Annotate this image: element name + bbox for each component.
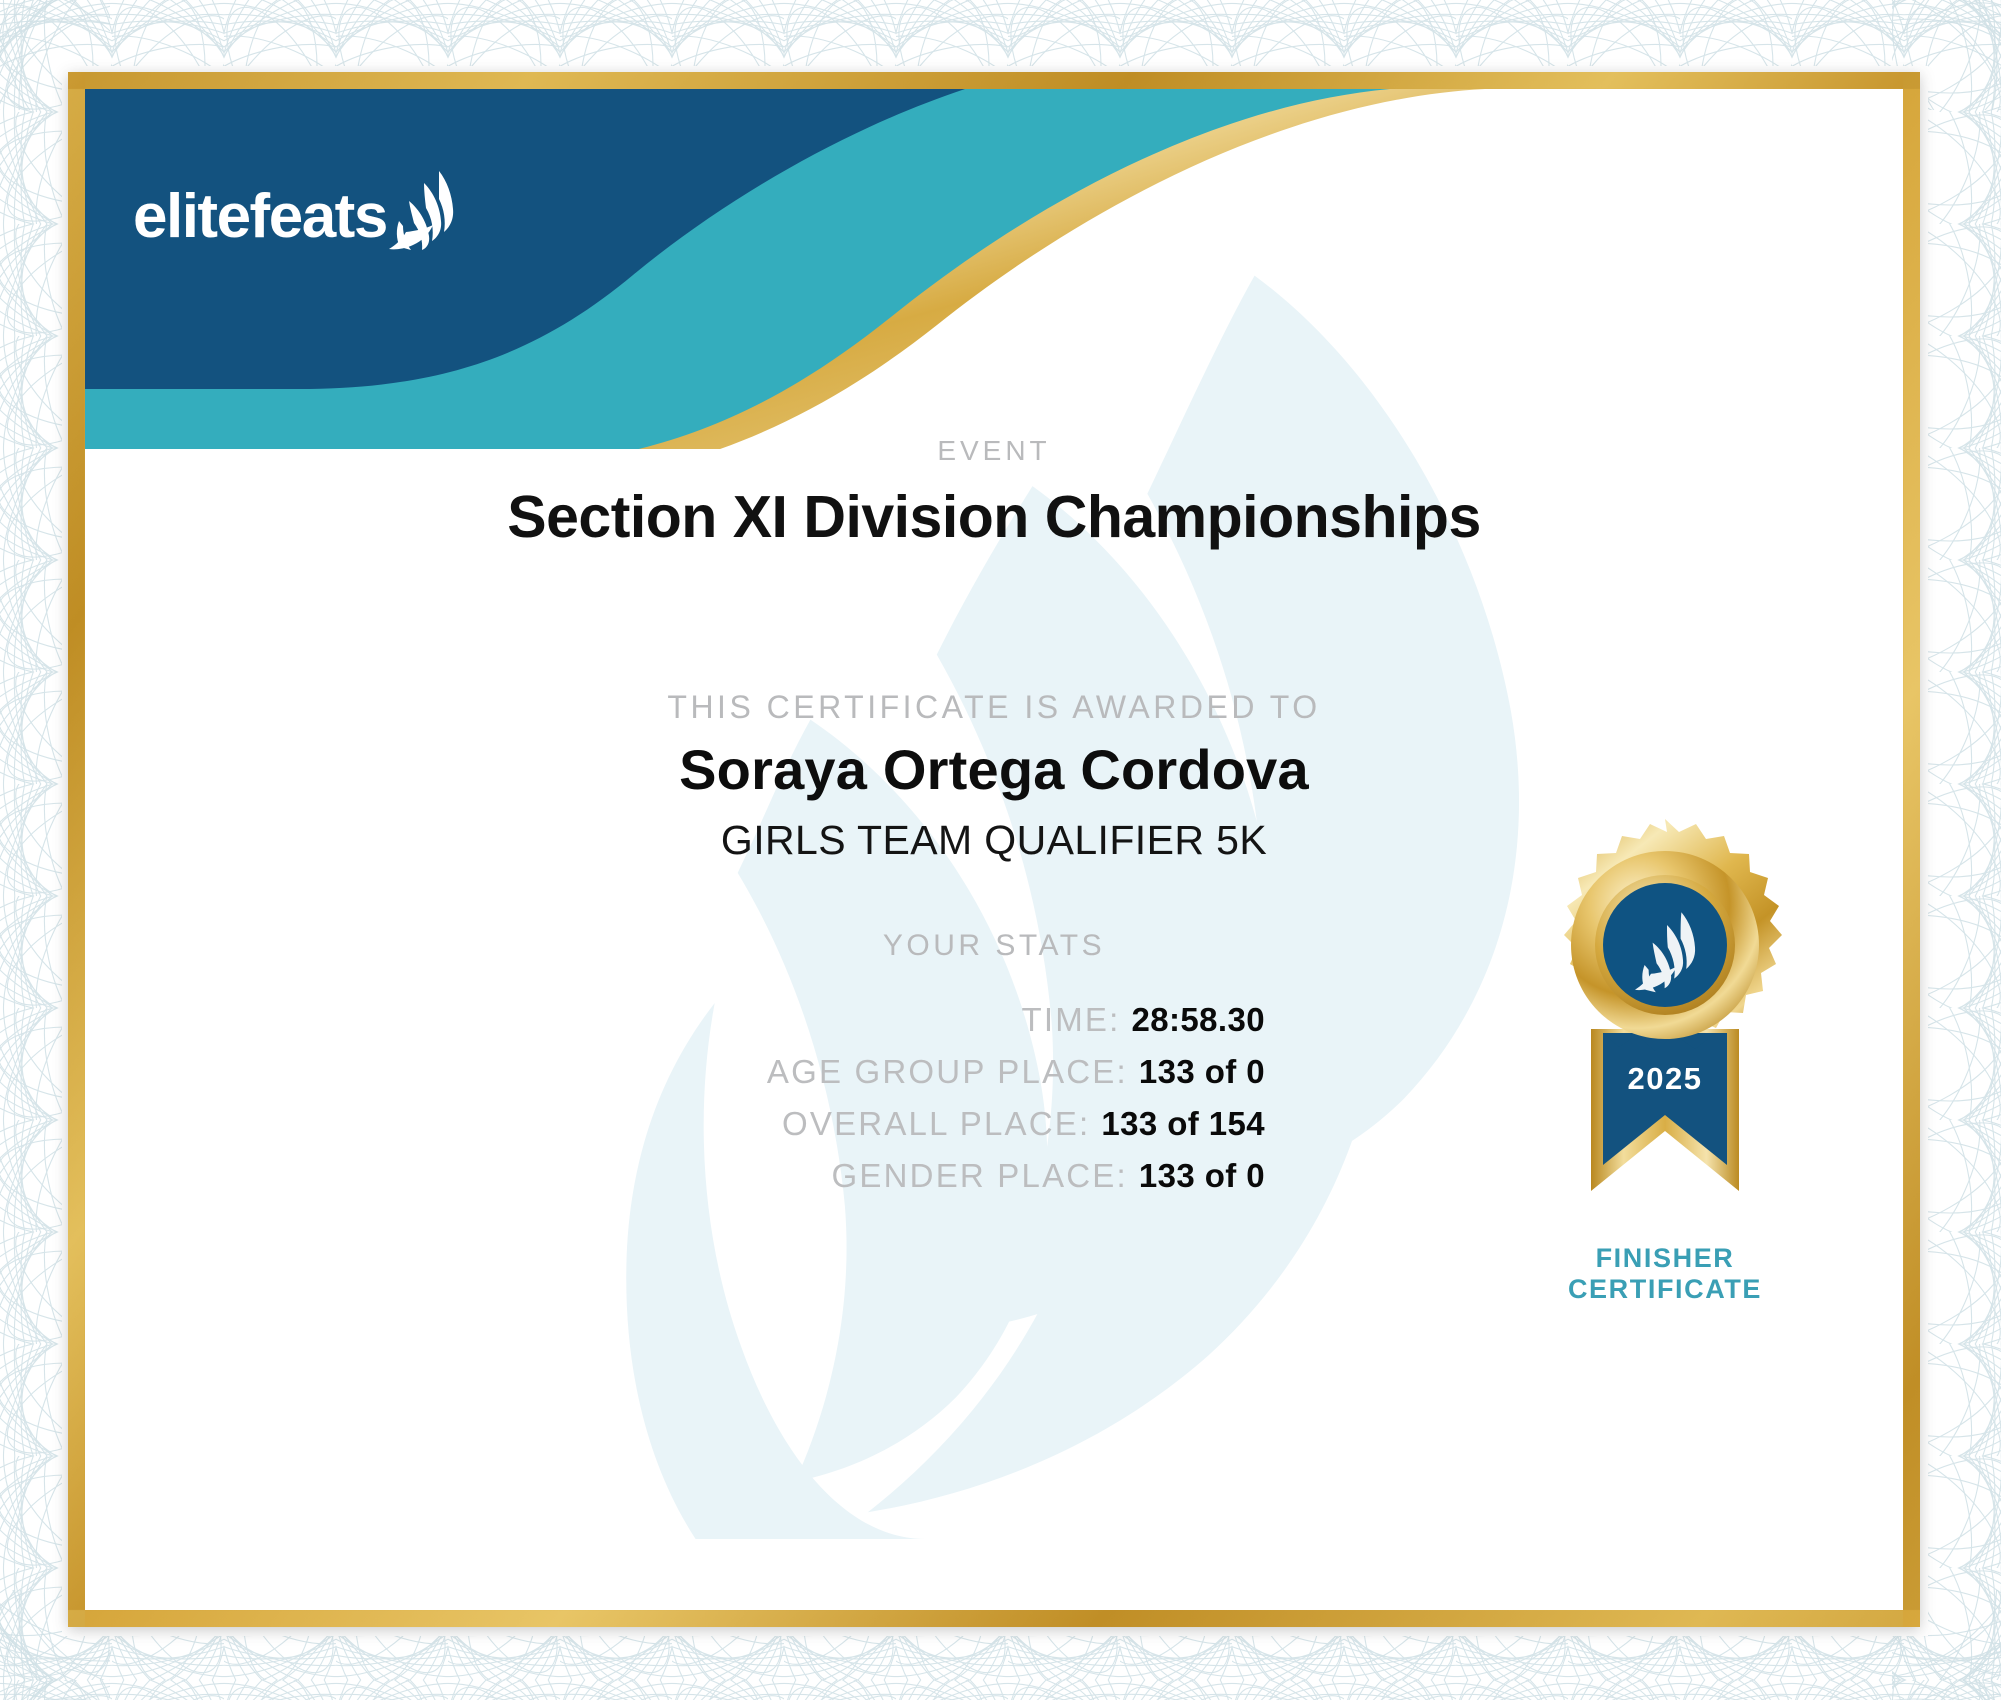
stat-row-age-group-place: AGE GROUP PLACE: 133 of 0	[85, 1053, 1265, 1091]
medal-year: 2025	[1628, 1061, 1703, 1096]
certificate-frame: elitefeats EVENT Se	[68, 72, 1920, 1627]
stat-value: 28:58.30	[1132, 1001, 1265, 1039]
stat-key: GENDER PLACE:	[832, 1157, 1128, 1195]
winged-foot-icon	[389, 169, 461, 256]
stat-value: 133 of 154	[1101, 1105, 1265, 1143]
stat-key: AGE GROUP PLACE:	[767, 1053, 1128, 1091]
finisher-medal: 2025	[1515, 819, 1815, 1305]
awarded-to-label: THIS CERTIFICATE IS AWARDED TO	[85, 689, 1903, 726]
certificate-root: elitefeats EVENT Se	[0, 0, 2001, 1700]
stat-row-time: TIME: 28:58.30	[85, 1001, 1265, 1039]
stat-value: 133 of 0	[1139, 1157, 1265, 1195]
brand-logo: elitefeats	[133, 177, 461, 256]
stat-key: OVERALL PLACE:	[782, 1105, 1090, 1143]
certificate-page: elitefeats EVENT Se	[85, 89, 1903, 1610]
event-label: EVENT	[85, 435, 1903, 467]
stats-list: TIME: 28:58.30 AGE GROUP PLACE: 133 of 0…	[85, 1001, 1265, 1209]
stat-row-overall-place: OVERALL PLACE: 133 of 154	[85, 1105, 1265, 1143]
stat-value: 133 of 0	[1139, 1053, 1265, 1091]
medal-caption-line1: FINISHER	[1515, 1243, 1815, 1274]
brand-wordmark: elitefeats	[133, 186, 387, 248]
medal-caption-line2: CERTIFICATE	[1515, 1274, 1815, 1305]
medal-caption: FINISHER CERTIFICATE	[1515, 1243, 1815, 1305]
event-title: Section XI Division Championships	[85, 483, 1903, 551]
recipient-name: Soraya Ortega Cordova	[85, 737, 1903, 802]
certificate-content: EVENT Section XI Division Championships …	[85, 89, 1903, 1610]
stat-row-gender-place: GENDER PLACE: 133 of 0	[85, 1157, 1265, 1195]
stat-key: TIME:	[1022, 1001, 1121, 1039]
